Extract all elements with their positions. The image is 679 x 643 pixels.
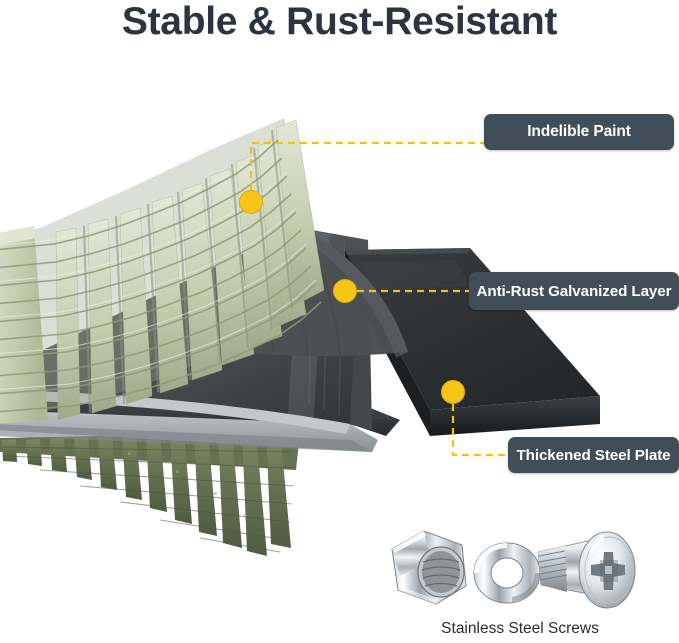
product-illustration — [0, 0, 679, 643]
flat-washer-icon — [474, 543, 540, 603]
hardware-caption: Stainless Steel Screws — [400, 620, 640, 638]
callout-dot-indelible-paint — [240, 191, 263, 214]
callout-dot-anti-rust — [334, 280, 357, 303]
lower-grating-layer — [0, 429, 300, 556]
phillips-head-bolt-icon — [538, 532, 635, 608]
callout-dot-steel-plate — [442, 381, 465, 404]
infographic-canvas: Stable & Rust-Resistant — [0, 0, 679, 643]
callout-label-anti-rust-galvanized-layer[interactable]: Anti-Rust Galvanized Layer — [469, 272, 679, 310]
callout-label-indelible-paint[interactable]: Indelible Paint — [484, 114, 674, 150]
callout-label-thickened-steel-plate[interactable]: Thickened Steel Plate — [508, 437, 679, 473]
hex-cap-nut-icon — [392, 531, 466, 604]
